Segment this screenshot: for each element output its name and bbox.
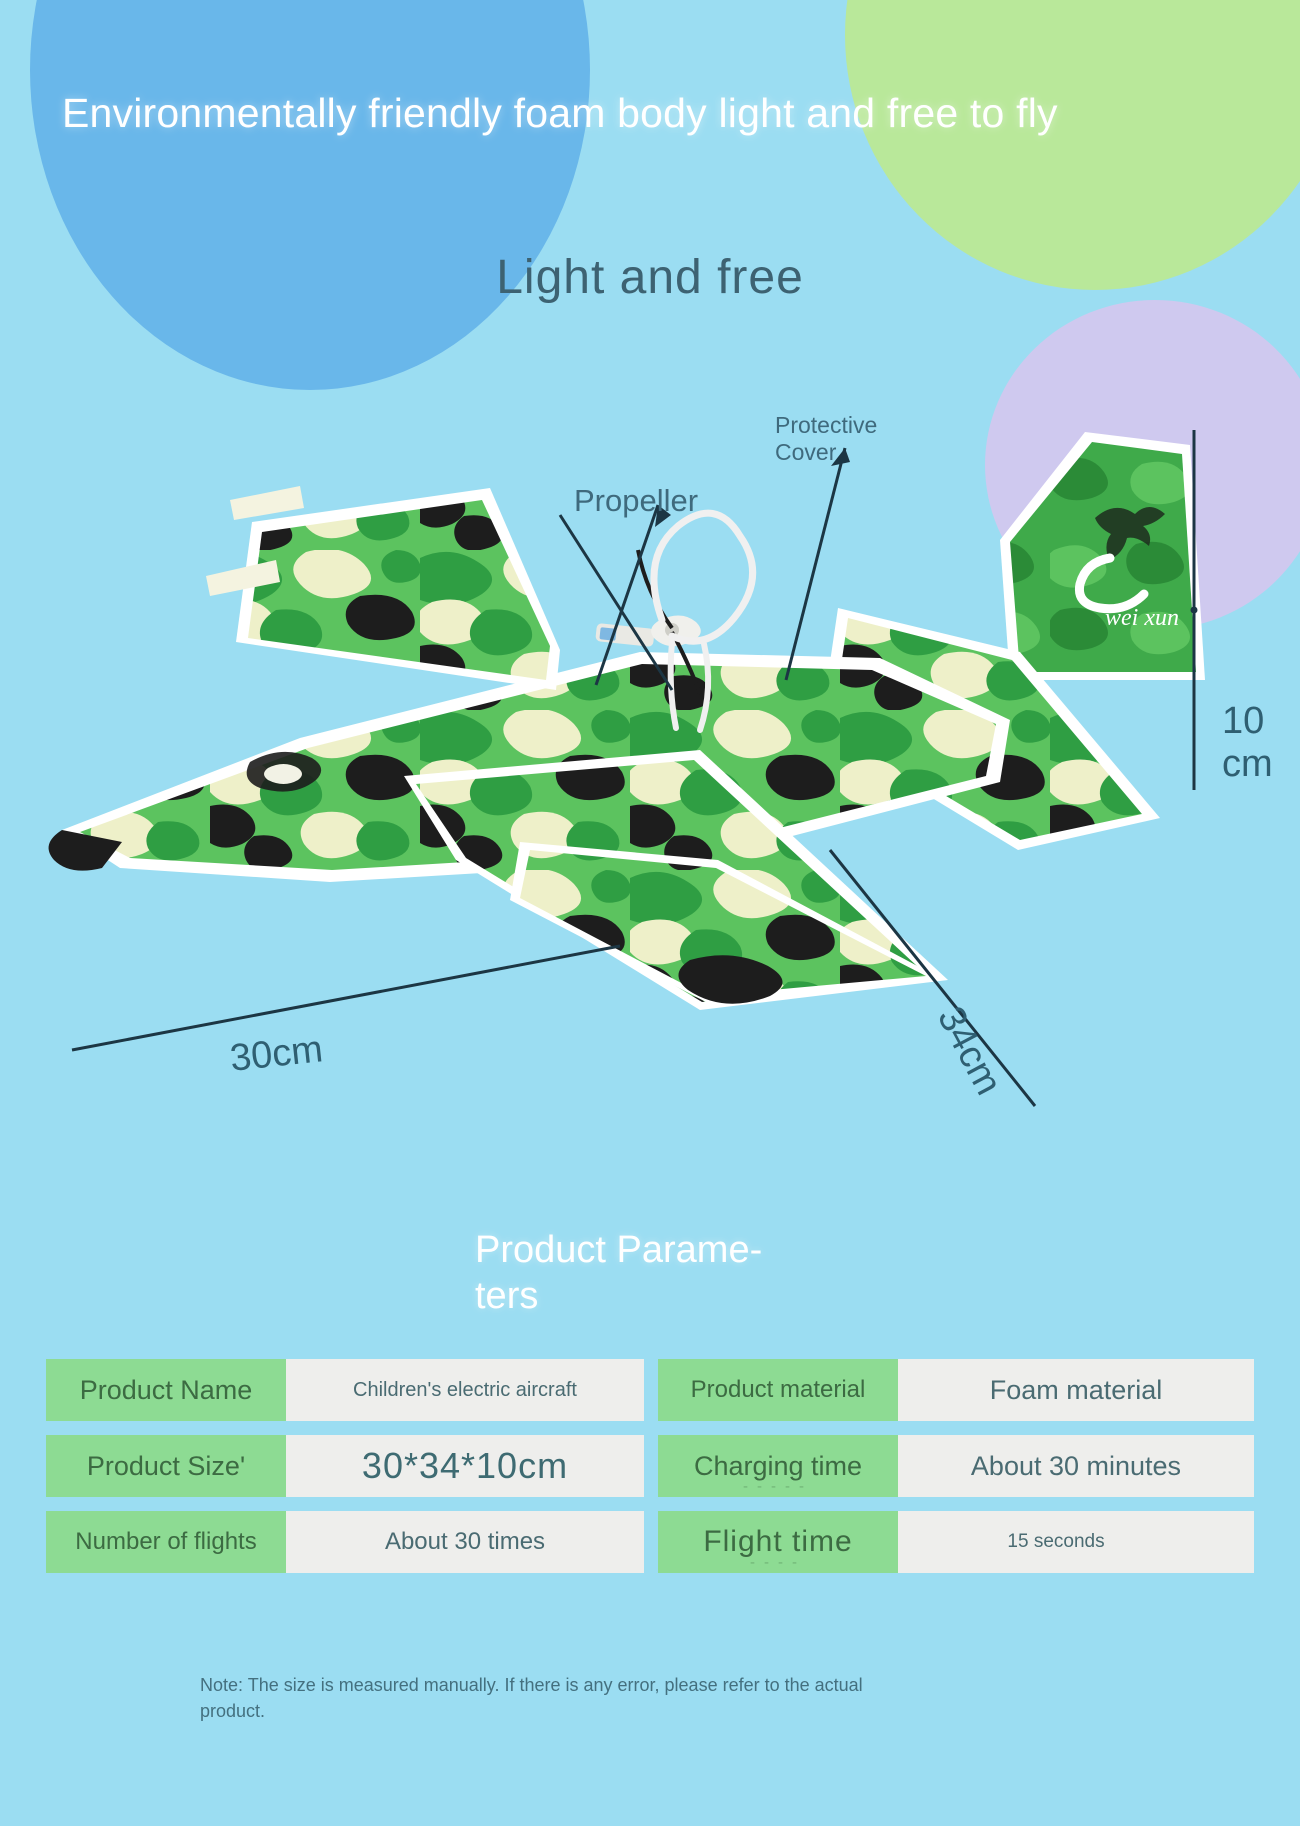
param-key-product-material: Product material bbox=[658, 1359, 898, 1421]
left-upper-wing bbox=[206, 486, 560, 690]
param-value-label: About 30 times bbox=[377, 1528, 553, 1556]
product-infographic: Environmentally friendly foam body light… bbox=[0, 0, 1300, 1826]
subheadline: Light and free bbox=[0, 250, 1300, 305]
param-value-label: 30*34*10cm bbox=[354, 1445, 576, 1487]
param-key-label: Charging time bbox=[686, 1451, 870, 1482]
section-title: Product Parame- ters bbox=[475, 1227, 835, 1320]
param-value-label: About 30 minutes bbox=[963, 1451, 1189, 1482]
tail-brand-text: wei xun bbox=[1105, 605, 1179, 631]
param-value-product-size: 30*34*10cm bbox=[286, 1435, 644, 1497]
blue-circle-decoration bbox=[30, 0, 590, 390]
param-key-number-of-flights: Number of flights bbox=[46, 1511, 286, 1573]
height-dimension-tick bbox=[1191, 607, 1198, 614]
param-value-label: 15 seconds bbox=[996, 1531, 1116, 1553]
table-row: Number of flights About 30 times Flight … bbox=[46, 1511, 1254, 1573]
propeller-label: Propeller bbox=[574, 483, 698, 520]
param-key-label: Flight time bbox=[695, 1525, 860, 1559]
param-key-product-name: Product Name bbox=[46, 1359, 286, 1421]
length-dimension-line bbox=[72, 946, 620, 1050]
param-key-flight-time: Flight time ---- bbox=[658, 1511, 898, 1573]
param-value-label: Foam material bbox=[982, 1375, 1171, 1406]
protective-cover-label: Protective Cover bbox=[775, 412, 925, 466]
param-key-label: Number of flights bbox=[67, 1528, 264, 1556]
headline: Environmentally friendly foam body light… bbox=[62, 88, 1222, 139]
param-key-charging-time: Charging time ----- bbox=[658, 1435, 898, 1497]
disclaimer-note: Note: The size is measured manually. If … bbox=[200, 1672, 880, 1724]
param-key-label: Product material bbox=[683, 1376, 874, 1404]
param-value-charging-time: About 30 minutes bbox=[898, 1435, 1254, 1497]
param-key-label: Product Size' bbox=[79, 1451, 253, 1482]
param-key-label: Product Name bbox=[72, 1375, 261, 1406]
product-parameters-table: Product Name Children's electric aircraf… bbox=[46, 1359, 1254, 1587]
table-row: Product Size' 30*34*10cm Charging time -… bbox=[46, 1435, 1254, 1497]
table-row: Product Name Children's electric aircraf… bbox=[46, 1359, 1254, 1421]
height-dimension-label: 10 cm bbox=[1222, 700, 1294, 785]
section-title-line-1: Product Parame- bbox=[475, 1227, 835, 1273]
green-circle-decoration bbox=[845, 0, 1300, 290]
param-value-number-of-flights: About 30 times bbox=[286, 1511, 644, 1573]
param-value-product-name: Children's electric aircraft bbox=[286, 1359, 644, 1421]
param-value-product-material: Foam material bbox=[898, 1359, 1254, 1421]
param-value-label: Children's electric aircraft bbox=[345, 1379, 585, 1402]
section-title-line-2: ters bbox=[475, 1273, 835, 1319]
tail-fin: wei xun bbox=[1000, 432, 1205, 680]
param-key-product-size: Product Size' bbox=[46, 1435, 286, 1497]
param-value-flight-time: 15 seconds bbox=[898, 1511, 1254, 1573]
